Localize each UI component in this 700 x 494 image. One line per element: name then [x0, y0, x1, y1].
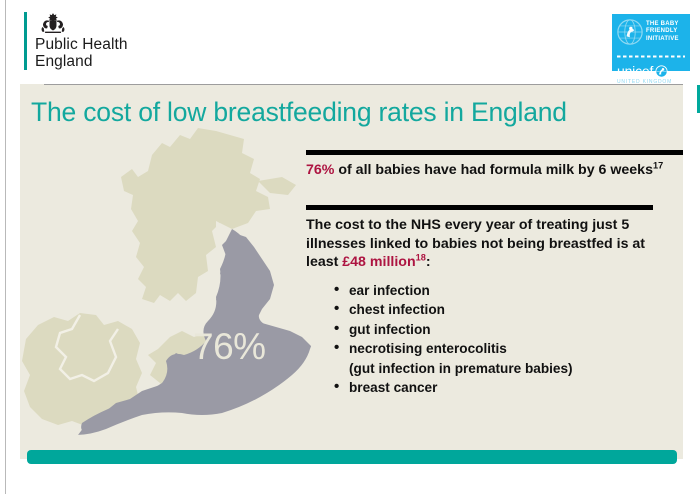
public-health-england-logo: Public Health England — [24, 12, 128, 70]
unicef-wordmark: unicef — [617, 64, 653, 78]
royal-crest-icon — [35, 12, 71, 34]
unicef-initiative-label: THE BABY FRIENDLY INITIATIVE — [646, 21, 679, 43]
stats-content: 76% of all babies have had formula milk … — [306, 150, 686, 398]
list-item: breast cancer — [334, 378, 686, 398]
stat-block-nhs-cost: The cost to the NHS every year of treati… — [306, 205, 686, 398]
stat-divider-rule — [306, 150, 683, 155]
phe-accent-bar — [24, 12, 27, 70]
page-title: The cost of low breastfeeding rates in E… — [31, 96, 567, 128]
footnote-ref: 17 — [653, 160, 663, 170]
unicef-baby-friendly-logo: THE BABY FRIENDLY INITIATIVE unicef UNIT… — [612, 14, 690, 71]
stat-accent-value: £48 million — [342, 254, 415, 270]
panel-top-divider — [44, 84, 683, 85]
illness-label: necrotising enterocolitis — [349, 341, 507, 356]
map-percentage-label: 76% — [193, 328, 266, 365]
list-item: gut infection — [334, 320, 686, 340]
footnote-ref: 18 — [416, 252, 426, 262]
illness-label: gut infection — [349, 322, 431, 337]
stat-paragraph-nhs-cost: The cost to the NHS every year of treati… — [306, 216, 662, 272]
stat-divider-rule — [306, 205, 653, 210]
stat-block-formula-milk: 76% of all babies have had formula milk … — [306, 150, 686, 179]
illness-label: ear infection — [349, 283, 430, 298]
illness-label: breast cancer — [349, 380, 437, 395]
list-item: ear infection — [334, 281, 686, 301]
page-header: Public Health England THE BABY FRIENDLY … — [0, 0, 700, 84]
illness-label: chest infection — [349, 302, 445, 317]
list-item: necrotising enterocolitis(gut infection … — [334, 339, 686, 378]
unicef-divider-dashes — [617, 55, 685, 58]
unicef-globe-icon — [617, 19, 643, 45]
illness-list: ear infection chest infection gut infect… — [334, 281, 686, 398]
footer-accent-bar — [27, 450, 677, 464]
unicef-mother-child-icon — [655, 65, 668, 78]
stat-text: of all babies have had formula milk by 6… — [334, 162, 653, 178]
stat-line-formula-milk: 76% of all babies have had formula milk … — [306, 161, 686, 179]
stat-text-after: : — [426, 254, 431, 270]
stat-accent-value: 76% — [306, 162, 334, 178]
uk-map-icon — [20, 125, 320, 445]
phe-name-label: Public Health England — [35, 36, 128, 70]
list-item: chest infection — [334, 300, 686, 320]
illness-note: (gut infection in premature babies) — [349, 359, 686, 379]
